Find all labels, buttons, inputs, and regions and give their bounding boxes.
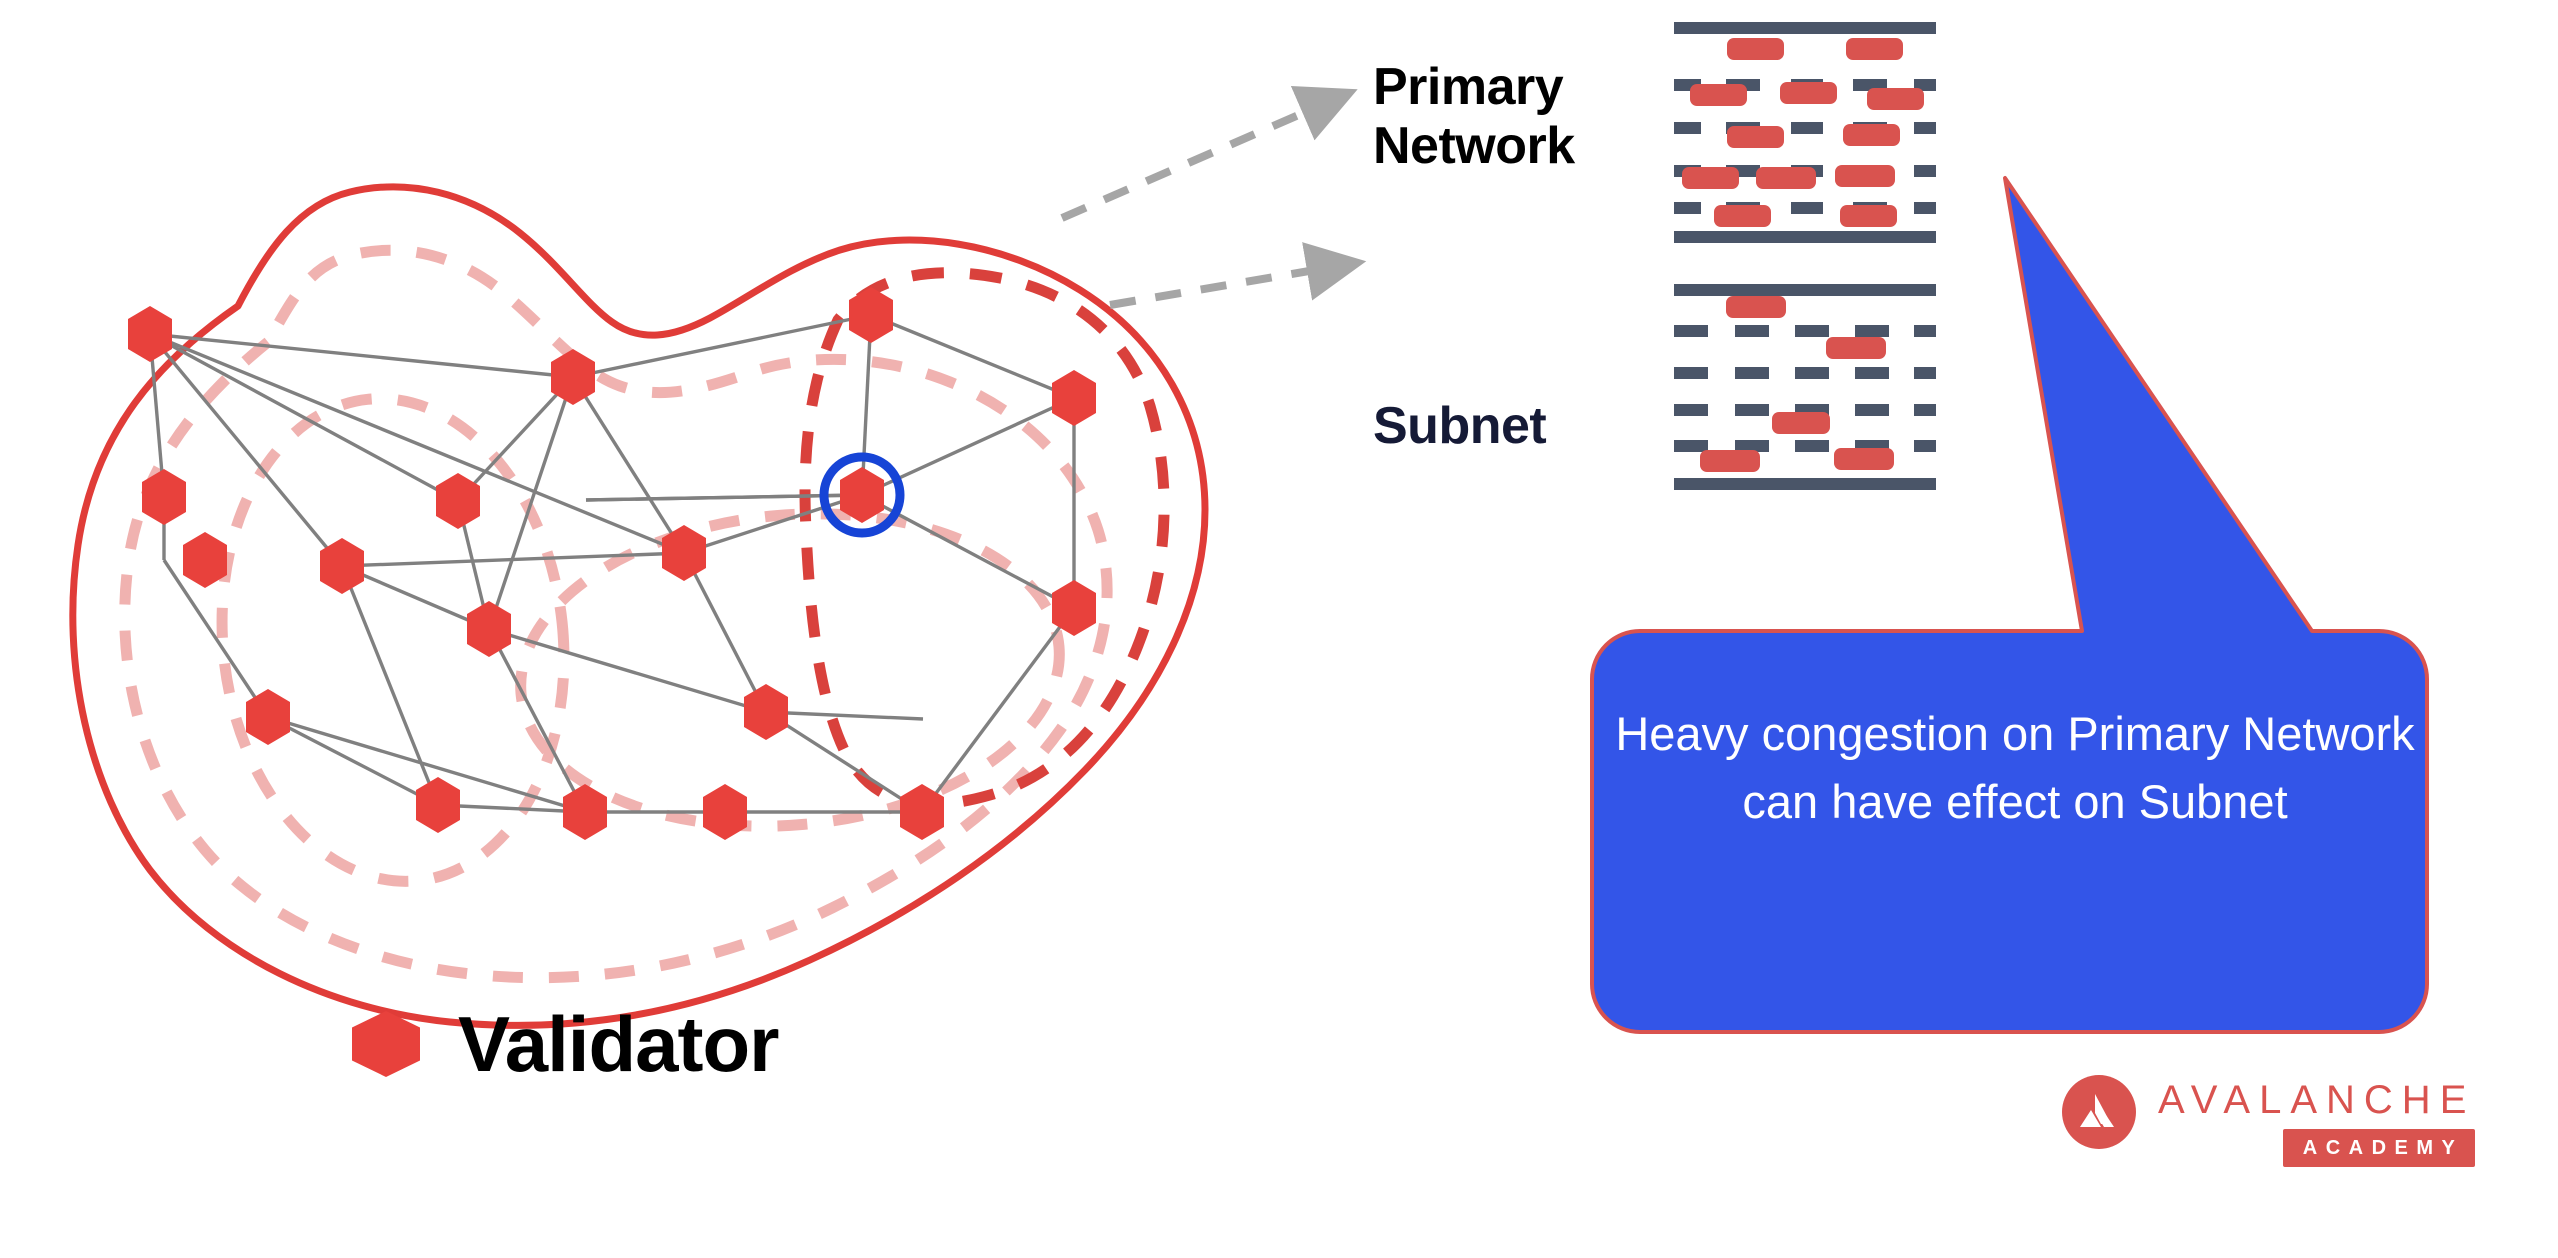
callout-bubble-shape bbox=[1592, 178, 2427, 1032]
avalanche-triangle-icon bbox=[2062, 1075, 2136, 1149]
road-edge-bottom bbox=[1674, 478, 1936, 490]
car bbox=[1727, 38, 1784, 60]
arrow-to-subnet bbox=[1110, 270, 1315, 305]
road-edge-top bbox=[1674, 284, 1936, 296]
inner-region-left-dashed bbox=[125, 250, 1107, 977]
callout-arrows bbox=[1062, 110, 1315, 305]
road-edge-bottom bbox=[1674, 231, 1936, 243]
hexagon-icon bbox=[348, 1011, 424, 1077]
car bbox=[1834, 448, 1894, 470]
car bbox=[1835, 165, 1895, 187]
logo-wordmark: AVALANCHE bbox=[2158, 1080, 2475, 1120]
legend-validator: Validator bbox=[348, 1005, 778, 1083]
legend-validator-label: Validator bbox=[458, 1005, 778, 1083]
car bbox=[1756, 167, 1816, 189]
validator-node bbox=[703, 784, 747, 840]
car bbox=[1726, 296, 1786, 318]
validator-node bbox=[1052, 370, 1096, 426]
label-primary-network: Primary Network bbox=[1373, 58, 1575, 176]
validator-node bbox=[246, 689, 290, 745]
validator-node bbox=[436, 473, 480, 529]
car bbox=[1846, 38, 1903, 60]
car bbox=[1727, 126, 1784, 148]
car bbox=[1690, 84, 1747, 106]
logo-text-group: AVALANCHE ACADEMY bbox=[2158, 1075, 2475, 1167]
validator-node bbox=[551, 349, 595, 405]
subnet-traffic bbox=[1674, 284, 1936, 490]
car bbox=[1867, 88, 1924, 110]
car bbox=[1682, 167, 1739, 189]
validator-node bbox=[563, 784, 607, 840]
subnet-boundary-dashed bbox=[805, 273, 1164, 805]
car bbox=[1714, 205, 1771, 227]
car bbox=[1843, 124, 1900, 146]
label-subnet: Subnet bbox=[1373, 396, 1546, 456]
car bbox=[1772, 412, 1830, 434]
validator-node bbox=[467, 601, 511, 657]
diagram-canvas: Primary Network Subnet Heavy congestion … bbox=[0, 0, 2558, 1258]
car bbox=[1826, 337, 1886, 359]
callout-bubble-text: Heavy congestion on Primary Network can … bbox=[1600, 700, 2430, 835]
road-edge-top bbox=[1674, 22, 1936, 34]
avalanche-academy-logo: AVALANCHE ACADEMY bbox=[2062, 1075, 2475, 1167]
validator-node bbox=[416, 777, 460, 833]
validator-node bbox=[849, 287, 893, 343]
validator-node bbox=[744, 684, 788, 740]
logo-academy-badge: ACADEMY bbox=[2283, 1129, 2476, 1167]
primary-network-traffic bbox=[1674, 22, 1936, 243]
car bbox=[1700, 450, 1760, 472]
primary-network-boundary bbox=[73, 187, 1205, 1026]
car bbox=[1840, 205, 1897, 227]
car bbox=[1780, 82, 1837, 104]
callout-bubble bbox=[1592, 178, 2427, 1032]
arrow-to-primary-network bbox=[1062, 110, 1310, 218]
